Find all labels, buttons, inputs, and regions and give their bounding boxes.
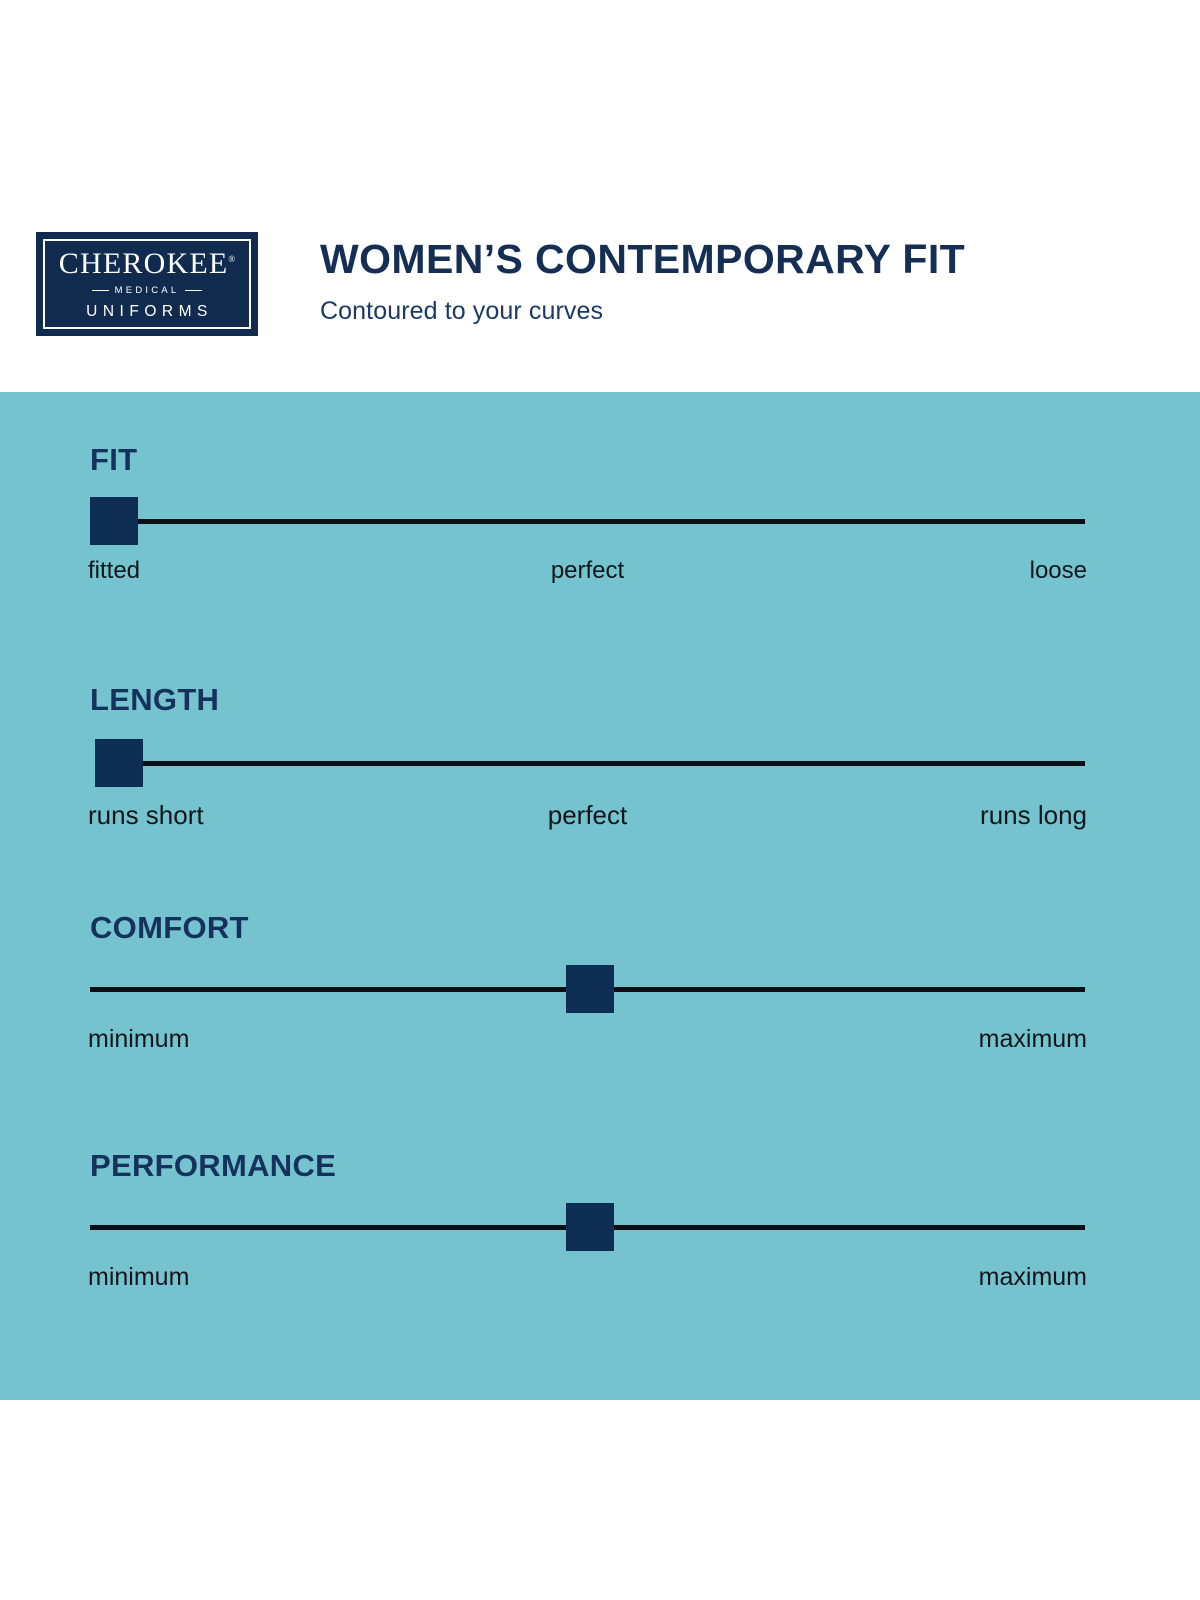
logo-medical-line: MEDICAL	[86, 286, 209, 296]
logo-brand-name: CHEROKEE®	[59, 249, 235, 279]
logo-brand-text: CHEROKEE	[59, 247, 229, 280]
scale-label-right-performance: maximum	[979, 1265, 1087, 1290]
scale-label-right-fit: loose	[1030, 559, 1087, 583]
page-subtitle: Contoured to your curves	[320, 297, 965, 326]
scale-label-middle-length: perfect	[548, 802, 628, 828]
scale-label-left-performance: minimum	[88, 1265, 189, 1290]
slider-track-fit[interactable]	[138, 519, 1085, 524]
logo-rule-left-icon	[92, 290, 109, 291]
slider-marker-performance[interactable]	[566, 1203, 614, 1251]
scale-label-left-length: runs short	[88, 802, 204, 828]
slider-track-length[interactable]	[143, 761, 1085, 766]
scale-label-left-fit: fitted	[88, 559, 140, 583]
logo-uniforms-text: UNIFORMS	[86, 304, 213, 320]
slider-marker-fit[interactable]	[90, 497, 138, 545]
title-block: WOMEN’S CONTEMPORARY FIT Contoured to yo…	[320, 238, 965, 326]
slider-marker-length[interactable]	[95, 739, 143, 787]
logo-medical-text: MEDICAL	[115, 286, 180, 296]
attribute-heading-comfort: COMFORT	[90, 912, 249, 943]
scale-label-left-comfort: minimum	[88, 1027, 189, 1052]
scale-label-right-length: runs long	[980, 802, 1087, 828]
logo-rule-right-icon	[185, 290, 202, 291]
scale-label-middle-fit: perfect	[551, 559, 624, 583]
attribute-heading-fit: FIT	[90, 444, 137, 475]
cherokee-logo: CHEROKEE® MEDICAL UNIFORMS	[36, 232, 258, 336]
fit-guide-panel: FIT fitted perfect loose LENGTH runs sho…	[0, 392, 1200, 1400]
logo-inner-frame: CHEROKEE® MEDICAL UNIFORMS	[43, 239, 251, 329]
attribute-heading-length: LENGTH	[90, 684, 219, 715]
attribute-heading-performance: PERFORMANCE	[90, 1150, 336, 1181]
registered-mark-icon: ®	[228, 254, 235, 264]
header: CHEROKEE® MEDICAL UNIFORMS WOMEN’S CONTE…	[0, 0, 1200, 392]
page-title: WOMEN’S CONTEMPORARY FIT	[320, 238, 965, 281]
scale-label-right-comfort: maximum	[979, 1027, 1087, 1052]
slider-marker-comfort[interactable]	[566, 965, 614, 1013]
